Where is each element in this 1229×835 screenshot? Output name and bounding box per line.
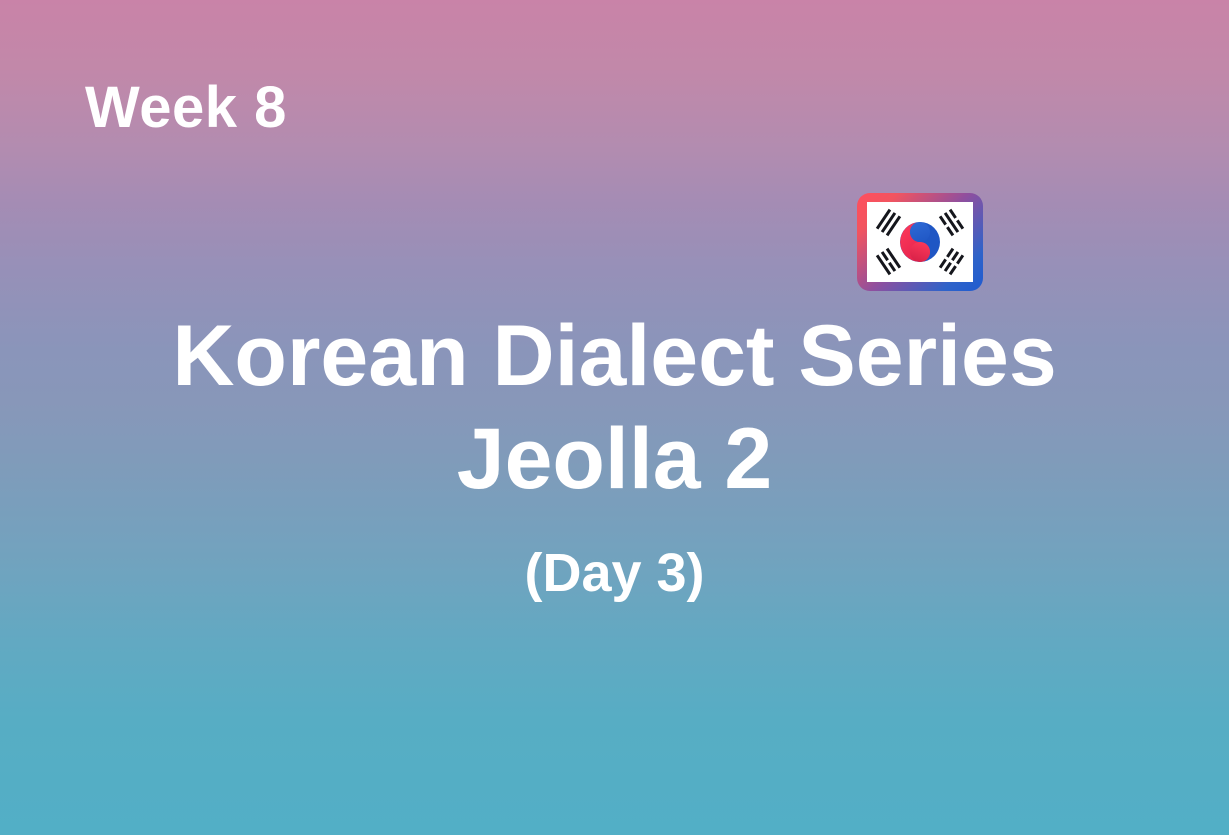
trigram-gam-icon bbox=[939, 209, 964, 236]
trigram-geon-icon bbox=[876, 209, 901, 236]
south-korea-flag-emoji bbox=[857, 193, 983, 291]
taegeuk-blue-lobe bbox=[910, 222, 930, 242]
flag-emoji-container bbox=[857, 193, 983, 291]
title-block: Korean Dialect Series Jeolla 2 (Day 3) bbox=[0, 305, 1229, 606]
page-title: Korean Dialect Series Jeolla 2 bbox=[40, 305, 1189, 511]
trigram-ri-icon bbox=[876, 248, 901, 275]
subtitle: (Day 3) bbox=[40, 541, 1189, 606]
taegeuk-red-lobe bbox=[910, 242, 930, 262]
slide-canvas: Week 8 bbox=[0, 0, 1229, 835]
flag-field bbox=[867, 202, 973, 282]
title-line-2: Jeolla 2 bbox=[40, 408, 1189, 511]
taegeuk-symbol bbox=[900, 222, 940, 262]
week-label: Week 8 bbox=[85, 78, 287, 139]
trigram-gon-icon bbox=[939, 248, 964, 275]
title-line-1: Korean Dialect Series bbox=[40, 305, 1189, 408]
